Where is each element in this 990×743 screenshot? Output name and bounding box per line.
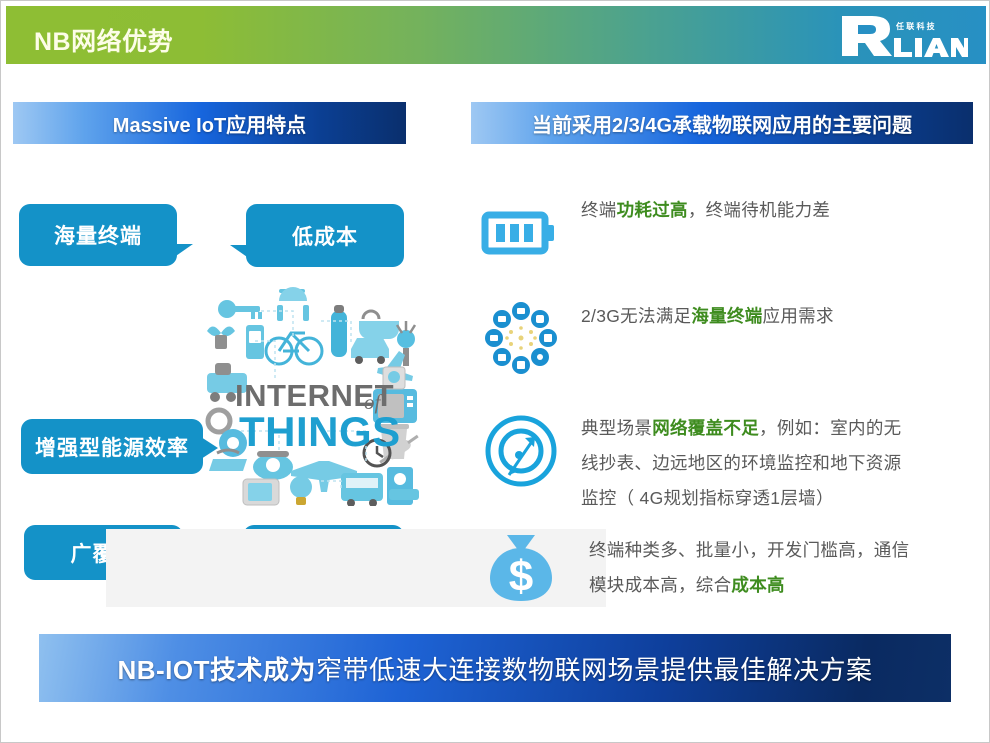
issue-text-segment: 终端 [581, 200, 617, 220]
logo-company-cn: 任 联 科 技 [895, 21, 936, 31]
conclusion-rest: 窄带低速大连接数物联网场景提供最佳解决方案 [316, 655, 873, 685]
issue-text: 终端种类多、批量小，开发门槛高，通信模块成本高，综合成本高 [589, 533, 981, 603]
conclusion-bold: NB-IOT技术成为 [117, 655, 316, 685]
bubble-low-cost[interactable]: 低成本 [246, 204, 404, 267]
issue-text-highlight: 成本高 [731, 575, 784, 595]
bubble-massive-terminals[interactable]: 海量终端 [19, 204, 177, 266]
bubble-enhanced-energy-efficiency[interactable]: 增强型能源效率 [21, 419, 203, 474]
conclusion-text: NB-IOT技术成为窄带低速大连接数物联网场景提供最佳解决方案 [117, 650, 872, 687]
issue-text-segment: 模块成本高，综合 [589, 575, 731, 595]
bubble-tail-icon [230, 245, 250, 259]
issue-text-line: 典型场景网络覆盖不足，例如：室内的无 [581, 411, 973, 446]
issue-text-line: 终端功耗过高，终端待机能力差 [581, 193, 973, 228]
issue-text-segment: 应用需求 [763, 306, 834, 326]
issue-text-line: 模块成本高，综合成本高 [589, 568, 981, 603]
slide-header: NB网络优势 任 联 科 技 [6, 6, 986, 64]
issue-text-highlight: 功耗过高 [617, 200, 688, 220]
bubble-label: 低成本 [292, 221, 358, 251]
issue-row-massive-connections: 2/3G无法满足海量终端应用需求 [471, 299, 973, 383]
issue-text-highlight: 海量终端 [691, 306, 762, 326]
issue-text-segment: 终端种类多、批量小，开发门槛高，通信 [589, 540, 909, 560]
issue-text-line: 监控（ 4G规划指标穿透1层墙） [581, 481, 973, 516]
issue-text-highlight: 网络覆盖不足 [652, 418, 759, 438]
issue-text-line: 2/3G无法满足海量终端应用需求 [581, 299, 973, 334]
section-header-left: Massive IoT应用特点 [13, 102, 406, 144]
issue-text-segment: 2/3G无法满足 [581, 306, 691, 326]
issue-text-line: 线抄表、边远地区的环境监控和地下资源 [581, 446, 973, 481]
issue-text-segment: ，终端待机能力差 [688, 200, 830, 220]
company-logo: 任 联 科 技 [838, 12, 968, 60]
bubble-tail-icon [173, 244, 193, 258]
issue-text-segment: 典型场景 [581, 418, 652, 438]
issue-text: 典型场景网络覆盖不足，例如：室内的无线抄表、边远地区的环境监控和地下资源监控（ … [581, 411, 973, 516]
issue-row-cost: $ 终端种类多、批量小，开发门槛高，通信模块成本高，综合成本高 [471, 529, 973, 613]
bubble-label: 海量终端 [54, 220, 142, 250]
coverage-target-icon [481, 411, 561, 491]
iot-wordcloud-icon: INTERNET of THINGS [201, 281, 421, 506]
conclusion-banner: NB-IOT技术成为窄带低速大连接数物联网场景提供最佳解决方案 [39, 634, 951, 702]
section-header-right: 当前采用2/3/4G承载物联网应用的主要问题 [471, 102, 973, 144]
iot-line2: THINGS [239, 408, 401, 455]
battery-icon [481, 193, 561, 273]
issue-row-coverage: 典型场景网络覆盖不足，例如：室内的无线抄表、边远地区的环境监控和地下资源监控（ … [471, 411, 973, 515]
issue-text-segment: 线抄表、边远地区的环境监控和地下资源 [581, 453, 901, 473]
logo-icon: 任 联 科 技 [838, 12, 968, 60]
issue-text: 2/3G无法满足海量终端应用需求 [581, 299, 973, 334]
section-title-left: Massive IoT应用特点 [113, 109, 306, 138]
issue-text: 终端功耗过高，终端待机能力差 [581, 193, 973, 228]
bubble-label: 增强型能源效率 [35, 432, 189, 462]
slide-canvas: NB网络优势 任 联 科 技 Massive IoT应 [0, 0, 990, 743]
page-title: NB网络优势 [34, 22, 173, 58]
iot-device-cluster-icon [481, 299, 561, 379]
issue-text-segment: 监控（ 4G规划指标穿透1层墙） [581, 488, 834, 508]
issue-row-power-consumption: 终端功耗过高，终端待机能力差 [471, 193, 973, 273]
money-bag-icon: $ [481, 529, 561, 609]
issue-text-segment: ，例如：室内的无 [759, 418, 901, 438]
svg-text:$: $ [509, 552, 533, 601]
section-title-right: 当前采用2/3/4G承载物联网应用的主要问题 [532, 109, 912, 138]
internet-of-things-illustration: INTERNET of THINGS [201, 281, 421, 506]
issue-text-line: 终端种类多、批量小，开发门槛高，通信 [589, 533, 981, 568]
